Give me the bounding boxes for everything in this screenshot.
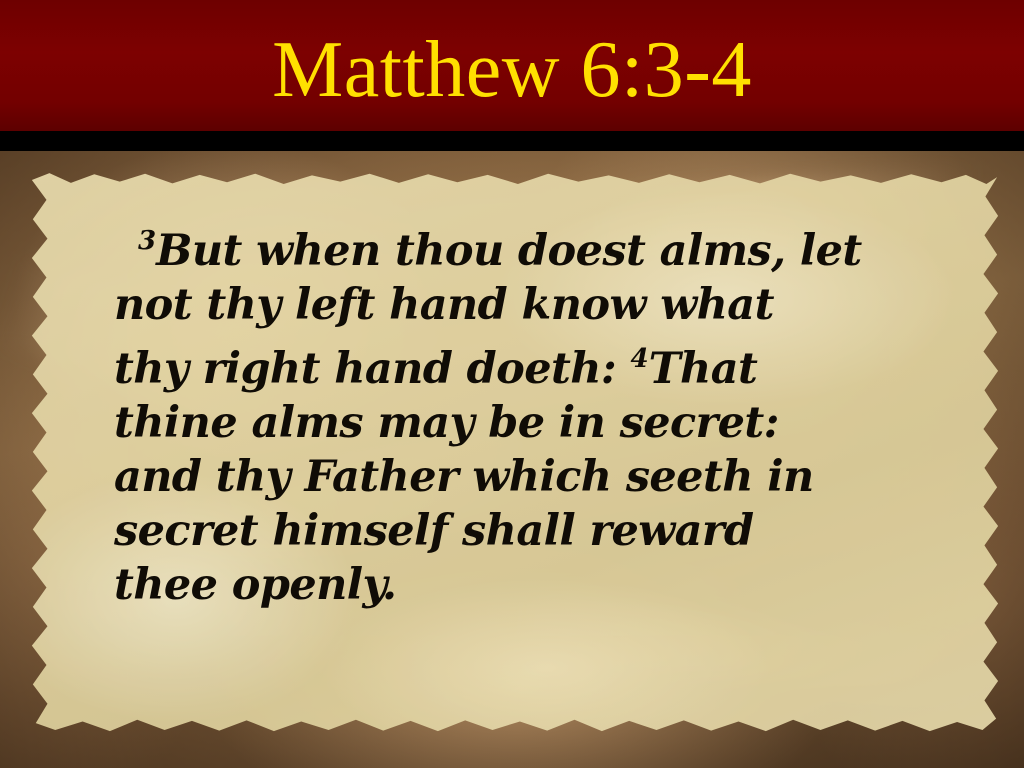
- scripture-line-text: That: [649, 344, 758, 394]
- scripture-line: secret himself shall reward: [114, 504, 904, 558]
- scripture-line-text: thy right hand doeth:: [114, 344, 631, 394]
- scripture-line-text: not thy left hand know what: [114, 280, 774, 330]
- scripture-line-text: thine alms may be in secret:: [114, 398, 779, 448]
- scripture-line: 3But when thou doest alms, let: [114, 214, 904, 278]
- verse-number-3: 3: [138, 226, 156, 256]
- scripture-line-text: and thy Father which seeth in: [114, 452, 814, 502]
- scripture-line: thine alms may be in secret:: [114, 396, 904, 450]
- header-divider-rule: [0, 131, 1024, 151]
- scripture-line: thee openly.: [114, 558, 904, 612]
- scripture-slide: Matthew 6:3-4 3But when thou doest alms,…: [0, 0, 1024, 768]
- scripture-line: thy right hand doeth: 4That: [114, 332, 904, 396]
- scripture-text-block: 3But when thou doest alms, let not thy l…: [114, 214, 904, 612]
- scripture-line-text: secret himself shall reward: [114, 506, 753, 556]
- page-title: Matthew 6:3-4: [0, 28, 1024, 112]
- scripture-line-text: thee openly.: [114, 560, 396, 610]
- scripture-line: and thy Father which seeth in: [114, 450, 904, 504]
- verse-number-4: 4: [631, 344, 649, 374]
- scripture-line: not thy left hand know what: [114, 278, 904, 332]
- scripture-line-text: But when thou doest alms, let: [156, 226, 862, 276]
